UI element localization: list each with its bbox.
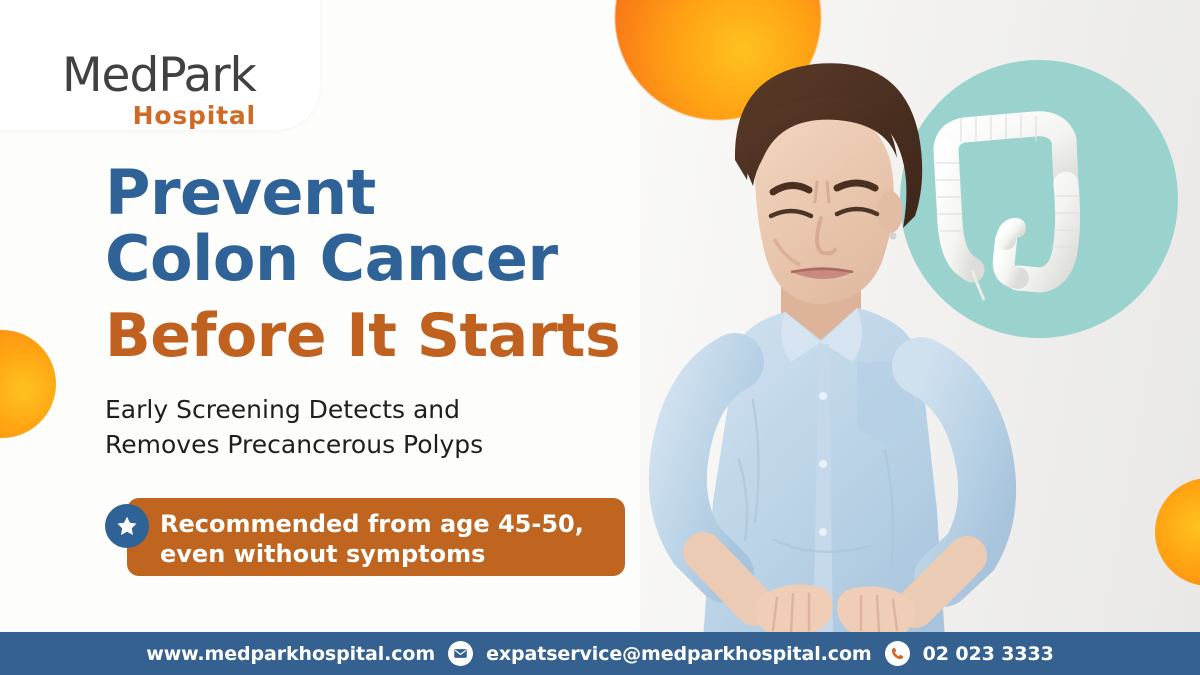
headline-line-1: Prevent <box>105 160 620 226</box>
footer-phone[interactable]: 02 023 3333 <box>923 643 1054 665</box>
phone-icon <box>885 641 910 666</box>
logo-word-park: Park <box>158 48 256 103</box>
subheadline-line-2: Removes Precancerous Polyps <box>105 427 620 463</box>
headline-primary: Prevent Colon Cancer <box>105 160 620 293</box>
subheadline-line-1: Early Screening Detects and <box>105 392 620 428</box>
logo-tagline: Hospital <box>62 103 256 128</box>
footer-website[interactable]: www.medparkhospital.com <box>146 643 435 665</box>
woman-abdominal-pain-photo <box>585 40 1145 640</box>
logo-word-med: Med <box>62 48 158 103</box>
brand-logo[interactable]: MedPark Hospital <box>62 52 256 128</box>
footer-email[interactable]: expatservice@medparkhospital.com <box>486 643 872 665</box>
subheadline: Early Screening Detects and Removes Prec… <box>105 392 620 463</box>
callout-line-2: even without symptoms <box>160 539 600 569</box>
callout-line-1: Recommended from age 45-50, <box>160 509 600 539</box>
advertisement-banner: MedPark Hospital Prevent Colon Cancer Be… <box>0 0 1200 675</box>
logo-wordmark: MedPark <box>62 52 256 99</box>
recommendation-callout: Recommended from age 45-50, even without… <box>105 498 625 576</box>
callout-text: Recommended from age 45-50, even without… <box>160 509 600 569</box>
star-icon <box>115 514 139 538</box>
envelope-icon <box>448 641 473 666</box>
headline-line-3: Before It Starts <box>105 305 620 368</box>
footer-contact-bar: www.medparkhospital.com expatservice@med… <box>0 632 1200 675</box>
headline-line-2: Colon Cancer <box>105 226 620 292</box>
headline-block: Prevent Colon Cancer Before It Starts Ea… <box>105 160 620 463</box>
star-badge <box>105 504 149 548</box>
